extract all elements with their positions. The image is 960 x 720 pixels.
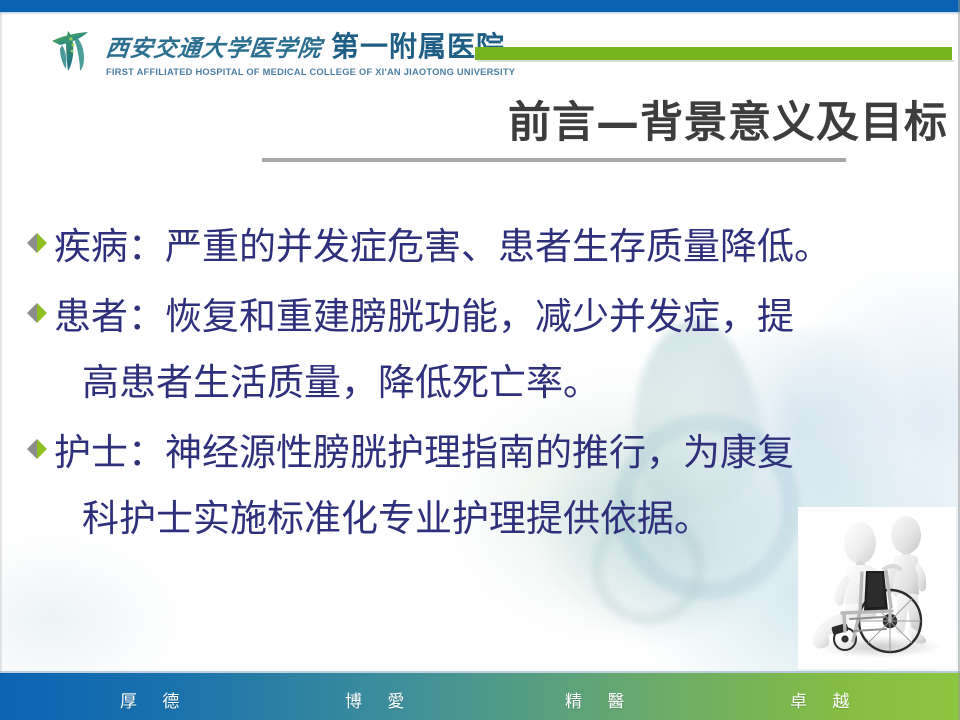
logo-university-name: 西安交通大学医学院 bbox=[104, 29, 324, 63]
hospital-logo-header: 西安交通大学医学院 第一附属医院 FIRST AFFILIATED HOSPIT… bbox=[48, 25, 515, 77]
title-underline bbox=[262, 158, 846, 162]
hospital-pagoda-logo-icon bbox=[48, 25, 100, 73]
diamond-bullet-icon bbox=[26, 232, 48, 254]
footer-motto-item: 厚 德 bbox=[120, 687, 189, 712]
logo-english-subtitle: FIRST AFFILIATED HOSPITAL OF MEDICAL COL… bbox=[106, 67, 515, 77]
bullet-line: 患者：恢复和重建膀胱功能，减少并发症，提 bbox=[54, 295, 794, 338]
slide-footer: 厚 德 博 愛 精 醫 卓 越 bbox=[0, 673, 960, 720]
header-green-rule bbox=[475, 47, 952, 60]
header-green-rule-shadow bbox=[477, 60, 954, 62]
footer-motto-item: 博 愛 bbox=[345, 687, 414, 712]
footer-motto-item: 精 醫 bbox=[565, 687, 634, 712]
diamond-bullet-icon bbox=[26, 302, 48, 324]
bullet-line-continuation: 科护士实施标准化专业护理提供依据。 bbox=[54, 486, 794, 552]
footer-motto-item: 卓 越 bbox=[790, 687, 859, 712]
logo-chinese-line: 西安交通大学医学院 第一附属医院 bbox=[106, 25, 515, 65]
bullet-item: 患者：恢复和重建膀胱功能，减少并发症，提 高患者生活质量，降低死亡率。 bbox=[26, 284, 946, 416]
bullet-text-block: 患者：恢复和重建膀胱功能，减少并发症，提 高患者生活质量，降低死亡率。 bbox=[54, 284, 794, 416]
bullet-text-block: 护士：神经源性膀胱护理指南的推行，为康复 科护士实施标准化专业护理提供依据。 bbox=[54, 420, 794, 552]
slide-title: 前言—背景意义及目标 bbox=[260, 97, 948, 149]
bullet-item: 疾病：严重的并发症危害、患者生存质量降低。 bbox=[26, 214, 946, 280]
bullet-line-continuation: 高患者生活质量，降低死亡率。 bbox=[54, 350, 794, 416]
bullet-text-block: 疾病：严重的并发症危害、患者生存质量降低。 bbox=[54, 214, 831, 280]
top-accent-bar-shadow bbox=[0, 12, 960, 15]
top-accent-bar bbox=[0, 0, 960, 12]
slide-body: 疾病：严重的并发症危害、患者生存质量降低。 患者：恢复和重建膀胱功能，减少并发症… bbox=[26, 214, 946, 556]
logo-text-block: 西安交通大学医学院 第一附属医院 FIRST AFFILIATED HOSPIT… bbox=[106, 25, 515, 77]
bullet-line: 护士：神经源性膀胱护理指南的推行，为康复 bbox=[54, 431, 794, 474]
diamond-bullet-icon bbox=[26, 438, 48, 460]
presentation-slide: 西安交通大学医学院 第一附属医院 FIRST AFFILIATED HOSPIT… bbox=[0, 0, 960, 720]
bullet-line: 疾病：严重的并发症危害、患者生存质量降低。 bbox=[54, 225, 831, 268]
slide-left-edge bbox=[0, 12, 2, 673]
wheelchair-assistance-photo bbox=[798, 507, 956, 669]
